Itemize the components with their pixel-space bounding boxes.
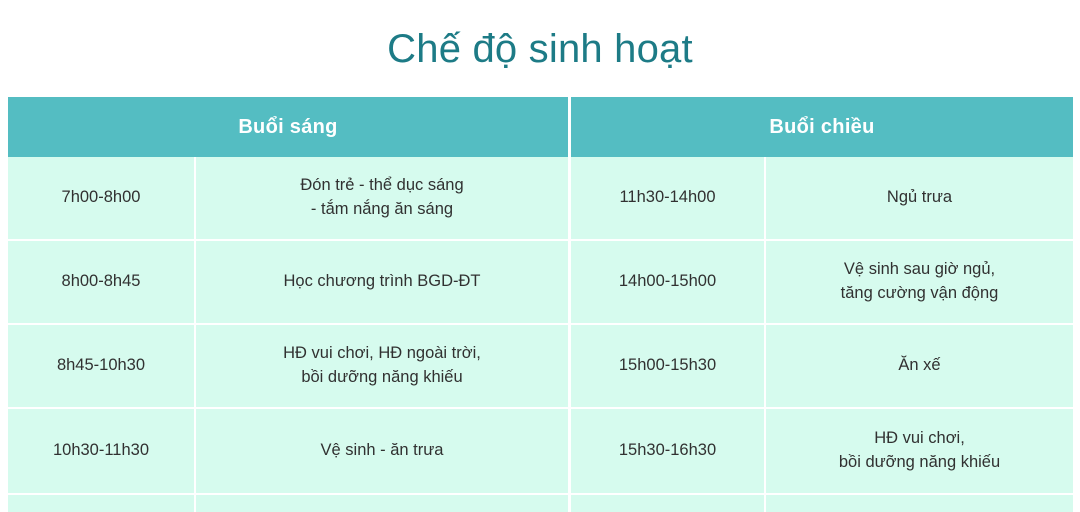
- activity-line-2: bồi dưỡng năng khiếu: [204, 366, 560, 390]
- table-row: 16h30-17h00 Trả trẻ: [8, 495, 1073, 512]
- cell-afternoon-activity: HĐ vui chơi, bồi dưỡng năng khiếu: [766, 409, 1073, 495]
- table-row: 8h45-10h30 HĐ vui chơi, HĐ ngoài trời, b…: [8, 325, 1073, 409]
- cell-morning-activity: Vệ sinh - ăn trưa: [196, 409, 571, 495]
- cell-morning-activity: Đón trẻ - thể dục sáng - tắm nắng ăn sán…: [196, 157, 571, 241]
- header-row: Buổi sáng Buổi chiều: [8, 97, 1073, 157]
- cell-morning-time: 8h00-8h45: [8, 241, 196, 325]
- column-header-morning: Buổi sáng: [8, 97, 571, 157]
- activity-line-2: - tắm nắng ăn sáng: [204, 198, 560, 222]
- activity-line-1: HĐ vui chơi, HĐ ngoài trời,: [204, 342, 560, 366]
- schedule-page: Chế độ sinh hoạt Buổi sáng Buổi chiều 7h…: [0, 0, 1080, 512]
- table-body: 7h00-8h00 Đón trẻ - thể dục sáng - tắm n…: [8, 157, 1073, 512]
- activity-line-1: Ngủ trưa: [774, 186, 1065, 210]
- table-row: 10h30-11h30 Vệ sinh - ăn trưa 15h30-16h3…: [8, 409, 1073, 495]
- cell-afternoon-time: 16h30-17h00: [571, 495, 766, 512]
- cell-afternoon-time: 11h30-14h00: [571, 157, 766, 241]
- activity-line-1: Học chương trình BGD-ĐT: [204, 270, 560, 294]
- activity-line-2: tăng cường vận động: [774, 282, 1065, 306]
- cell-morning-activity: Học chương trình BGD-ĐT: [196, 241, 571, 325]
- activity-line-1: Vệ sinh sau giờ ngủ,: [774, 258, 1065, 282]
- page-title-container: Chế độ sinh hoạt: [0, 0, 1080, 97]
- cell-morning-time: 7h00-8h00: [8, 157, 196, 241]
- table-header: Buổi sáng Buổi chiều: [8, 97, 1073, 157]
- activity-line-1: Ăn xế: [774, 354, 1065, 378]
- table-row: 7h00-8h00 Đón trẻ - thể dục sáng - tắm n…: [8, 157, 1073, 241]
- cell-afternoon-time: 14h00-15h00: [571, 241, 766, 325]
- cell-afternoon-time: 15h30-16h30: [571, 409, 766, 495]
- column-header-afternoon: Buổi chiều: [571, 97, 1073, 157]
- cell-morning-activity: HĐ vui chơi, HĐ ngoài trời, bồi dưỡng nă…: [196, 325, 571, 409]
- schedule-table-container: Buổi sáng Buổi chiều 7h00-8h00 Đón trẻ -…: [8, 97, 1073, 512]
- cell-afternoon-activity: Ăn xế: [766, 325, 1073, 409]
- activity-line-1: HĐ vui chơi,: [774, 427, 1065, 451]
- activity-line-2: bồi dưỡng năng khiếu: [774, 451, 1065, 475]
- cell-morning-activity: [196, 495, 571, 512]
- cell-morning-time: 10h30-11h30: [8, 409, 196, 495]
- cell-morning-time: [8, 495, 196, 512]
- page-title: Chế độ sinh hoạt: [387, 27, 693, 71]
- activity-line-1: Đón trẻ - thể dục sáng: [204, 174, 560, 198]
- cell-afternoon-activity: Vệ sinh sau giờ ngủ, tăng cường vận động: [766, 241, 1073, 325]
- table-row: 8h00-8h45 Học chương trình BGD-ĐT 14h00-…: [8, 241, 1073, 325]
- cell-afternoon-time: 15h00-15h30: [571, 325, 766, 409]
- cell-afternoon-activity: Trả trẻ: [766, 495, 1073, 512]
- activity-line-1: Vệ sinh - ăn trưa: [204, 439, 560, 463]
- cell-afternoon-activity: Ngủ trưa: [766, 157, 1073, 241]
- cell-morning-time: 8h45-10h30: [8, 325, 196, 409]
- schedule-table: Buổi sáng Buổi chiều 7h00-8h00 Đón trẻ -…: [8, 97, 1073, 512]
